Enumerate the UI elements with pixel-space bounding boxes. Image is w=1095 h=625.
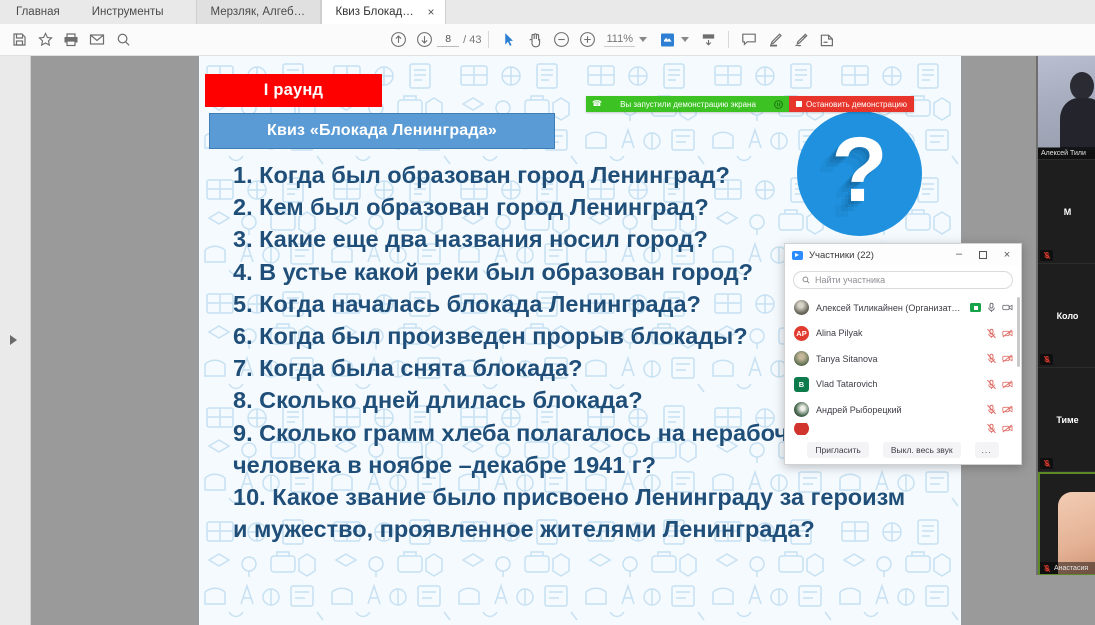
menu-tab-home[interactable]: Главная: [0, 0, 76, 24]
participant-name: Alina Pilyak: [816, 328, 979, 338]
avatar: [794, 423, 809, 435]
participant-video-image: [1038, 56, 1095, 148]
document-tab-quiz[interactable]: Квиз Блокада Лен... ×: [321, 0, 446, 24]
participant-search-wrapper: Найти участника: [785, 266, 1021, 295]
page-total-label: / 43: [463, 34, 481, 46]
video-tile[interactable]: Алексей Тили: [1038, 56, 1095, 160]
stop-share-button[interactable]: Остановить демонстрацию: [789, 96, 914, 112]
avatar: [794, 402, 809, 417]
envelope-icon[interactable]: [84, 27, 110, 53]
camera-off-icon[interactable]: [1002, 404, 1013, 415]
main-toolbar: 8 / 43: [0, 24, 1095, 56]
document-tab-algebra-label: Мерзляк, Алгебра ...: [211, 6, 310, 18]
participant-row[interactable]: AP Alina Pilyak: [785, 321, 1021, 347]
more-options-button[interactable]: ...: [975, 442, 999, 458]
avatar: [794, 300, 809, 315]
slide-title-banner: Квиз «Блокада Ленинграда»: [209, 113, 555, 149]
comment-icon[interactable]: [736, 27, 762, 53]
stop-square-icon: [796, 101, 802, 107]
microphone-icon[interactable]: [986, 302, 997, 313]
participants-panel-title: Участники (22): [809, 250, 947, 261]
participant-row-icons: [986, 353, 1013, 364]
video-tile-name: Коло: [1038, 311, 1095, 321]
avatar-initials: AP: [796, 329, 806, 338]
invite-button[interactable]: Пригласить: [807, 442, 869, 458]
cursor-icon[interactable]: [496, 27, 522, 53]
maximize-icon[interactable]: [971, 245, 995, 265]
minimize-icon[interactable]: –: [947, 245, 971, 265]
video-tile-name: Анастасия: [1054, 565, 1088, 572]
participant-list-scrollbar[interactable]: [1017, 297, 1020, 367]
video-tile-name: М: [1038, 207, 1095, 217]
question-item: 1. Когда был образован город Ленинград?: [233, 159, 953, 191]
avatar: AP: [794, 326, 809, 341]
participant-row[interactable]: Алексей Тиликайнен (Организатор, я): [785, 295, 1021, 321]
participant-name: Андрей Рыборецкий: [816, 405, 979, 415]
minus-circle-icon[interactable]: [548, 27, 574, 53]
toolbar-divider: [488, 31, 489, 48]
participant-row-icons: [986, 423, 1013, 434]
camera-off-icon[interactable]: [1002, 328, 1013, 339]
pause-circle-icon[interactable]: [774, 100, 783, 109]
menu-tab-home-label: Главная: [16, 6, 60, 18]
stop-share-label: Остановить демонстрацию: [806, 100, 907, 109]
plus-circle-icon[interactable]: [574, 27, 600, 53]
microphone-muted-icon: [1040, 354, 1053, 365]
participant-search-placeholder: Найти участника: [815, 275, 885, 285]
participant-list[interactable]: Алексей Тиликайнен (Организатор, я): [785, 295, 1021, 436]
fit-page-chevron-icon[interactable]: [681, 37, 689, 42]
silhouette-torso: [1060, 98, 1095, 150]
avatar-initials: B: [799, 380, 804, 389]
participant-row[interactable]: Tanya Sitanova: [785, 346, 1021, 372]
video-filmstrip[interactable]: Алексей Тили М Коло Тиме: [1036, 56, 1095, 575]
close-icon[interactable]: ×: [427, 6, 434, 18]
camera-off-icon[interactable]: [1002, 379, 1013, 390]
slide-title-label: Квиз «Блокада Ленинграда»: [267, 122, 497, 140]
screen-share-badge-icon: [970, 303, 981, 312]
close-icon[interactable]: ×: [995, 245, 1019, 265]
menu-tab-tools-label: Инструменты: [92, 6, 164, 18]
camera-icon[interactable]: [1002, 302, 1013, 313]
camera-off-icon[interactable]: [1002, 353, 1013, 364]
share-status-section: ☎ Вы запустили демонстрацию экрана: [586, 96, 789, 112]
video-tile-name: Тиме: [1038, 415, 1095, 425]
toolbar-file-group: [6, 27, 136, 53]
participants-panel-footer: Пригласить Выкл. весь звук ...: [785, 436, 1021, 464]
phone-icon: ☎: [592, 100, 602, 108]
hand-icon[interactable]: [522, 27, 548, 53]
application-window: Главная Инструменты Мерзляк, Алгебра ...…: [0, 0, 1095, 625]
document-tab-quiz-label: Квиз Блокада Лен...: [336, 6, 418, 18]
round-banner-label: I раунд: [264, 81, 323, 100]
microphone-muted-icon: [1040, 250, 1053, 261]
share-status-label: Вы запустили демонстрацию экрана: [607, 100, 769, 109]
round-banner: I раунд: [205, 74, 382, 107]
fit-page-icon[interactable]: [655, 27, 681, 53]
arrow-down-circle-icon[interactable]: [411, 27, 437, 53]
question-item: 10. Какое звание было присвоено Ленингра…: [233, 481, 953, 545]
microphone-muted-icon[interactable]: [986, 404, 997, 415]
camera-off-icon[interactable]: [1002, 423, 1013, 434]
video-tile-active-speaker[interactable]: Анастасия: [1038, 472, 1095, 575]
save-icon[interactable]: [6, 27, 32, 53]
microphone-muted-icon[interactable]: [986, 379, 997, 390]
video-tile[interactable]: М: [1038, 160, 1095, 264]
search-icon[interactable]: [110, 27, 136, 53]
participant-row-icons: [986, 404, 1013, 415]
chevron-down-icon[interactable]: [639, 37, 647, 42]
participants-panel-titlebar: Участники (22) – ×: [785, 244, 1021, 266]
participant-row-icons: [986, 328, 1013, 339]
star-icon[interactable]: [32, 27, 58, 53]
video-tile-name-bar: Алексей Тили: [1038, 147, 1095, 159]
participant-row[interactable]: B Vlad Tatarovich: [785, 372, 1021, 398]
stamp-icon[interactable]: [814, 27, 840, 53]
question-item: 2. Кем был образован город Ленинград?: [233, 191, 953, 223]
arrow-up-circle-icon[interactable]: [385, 27, 411, 53]
tab-strip: Главная Инструменты Мерзляк, Алгебра ...…: [0, 0, 1095, 24]
participant-name: Tanya Sitanova: [816, 354, 979, 364]
participant-name: Vlad Tatarovich: [816, 379, 979, 389]
toolbar-navigation-group: 8 / 43: [385, 27, 840, 53]
video-tile-name-bar: Анастасия: [1040, 562, 1095, 574]
participant-row-icons: [970, 302, 1013, 313]
microphone-muted-icon: [1040, 458, 1053, 469]
mute-all-button[interactable]: Выкл. весь звук: [883, 442, 961, 458]
microphone-muted-icon[interactable]: [986, 328, 997, 339]
search-icon: [802, 276, 810, 284]
microphone-muted-icon[interactable]: [986, 353, 997, 364]
scroll-mode-icon[interactable]: [695, 27, 721, 53]
silhouette-head: [1070, 72, 1094, 100]
zoom-logo-icon: [792, 251, 803, 260]
participant-row-icons: [986, 379, 1013, 390]
page-indicator: 8 / 43: [437, 33, 481, 47]
page-number-input[interactable]: 8: [437, 33, 459, 47]
toolbar-divider-2: [728, 31, 729, 48]
participant-row[interactable]: Андрей Рыборецкий: [785, 397, 1021, 423]
microphone-muted-icon[interactable]: [986, 423, 997, 434]
avatar: [794, 351, 809, 366]
expand-sidebar-icon[interactable]: [10, 335, 17, 345]
avatar: B: [794, 377, 809, 392]
participant-search-input[interactable]: Найти участника: [793, 271, 1013, 289]
print-icon[interactable]: [58, 27, 84, 53]
document-tab-algebra[interactable]: Мерзляк, Алгебра ...: [196, 0, 321, 24]
participant-row[interactable]: [785, 423, 1021, 435]
video-tile-name: Алексей Тили: [1041, 150, 1086, 157]
participants-panel[interactable]: Участники (22) – × Найти участника Алекс…: [784, 243, 1022, 465]
navigation-rail[interactable]: [0, 56, 31, 625]
highlighter-icon[interactable]: [762, 27, 788, 53]
video-tile[interactable]: Коло: [1038, 264, 1095, 368]
menu-tab-tools[interactable]: Инструменты: [76, 0, 180, 24]
zoom-level-value: 111%: [604, 33, 635, 47]
microphone-muted-icon: [1043, 564, 1051, 573]
zoom-control[interactable]: 111%: [604, 33, 647, 47]
participant-name: Алексей Тиликайнен (Организатор, я): [816, 303, 963, 313]
video-tile[interactable]: Тиме: [1038, 368, 1095, 472]
signature-icon[interactable]: [788, 27, 814, 53]
screen-share-status-bar: ☎ Вы запустили демонстрацию экрана Остан…: [586, 96, 914, 112]
